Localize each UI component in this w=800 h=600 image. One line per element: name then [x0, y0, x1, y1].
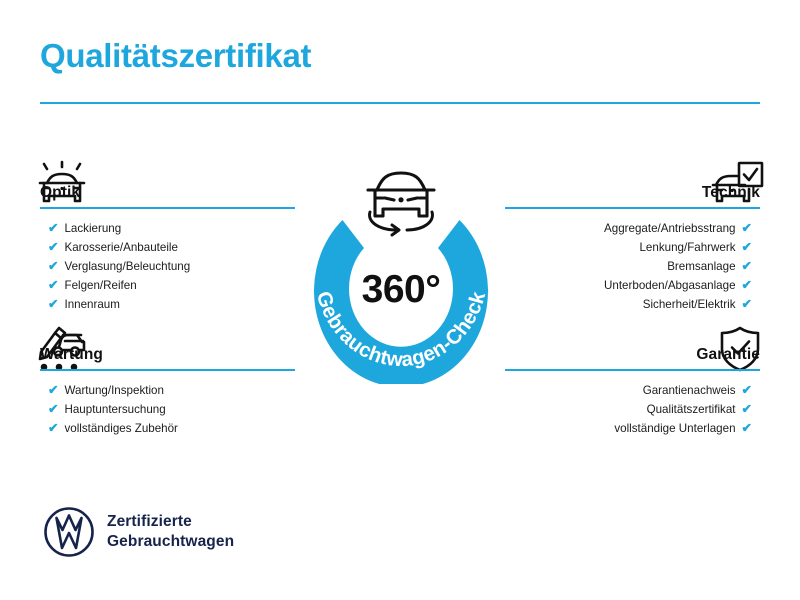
check-icon: ✔ [742, 241, 752, 254]
section-list-optik: ✔Lackierung ✔Karosserie/Anbauteile ✔Verg… [40, 209, 295, 314]
list-item: ✔Karosserie/Anbauteile [40, 238, 295, 257]
list-item: Aggregate/Antriebsstrang✔ [505, 219, 760, 238]
check-icon: ✔ [48, 384, 58, 397]
list-item: ✔Lackierung [40, 219, 295, 238]
car-rotate-360-icon [368, 173, 434, 235]
list-item-label: Verglasung/Beleuchtung [64, 257, 190, 276]
list-item-label: Qualitätszertifikat [647, 400, 736, 419]
list-item: ✔Wartung/Inspektion [40, 381, 295, 400]
list-item-label: vollständiges Zubehör [64, 419, 177, 438]
check-icon: ✔ [48, 279, 58, 292]
section-optik: Optik ✔Lackierung ✔Karosserie/Anbauteile… [40, 160, 295, 314]
check-icon: ✔ [48, 298, 58, 311]
list-item: vollständige Unterlagen✔ [505, 419, 760, 438]
check-icon: ✔ [742, 403, 752, 416]
section-title-optik: Optik [40, 185, 80, 203]
list-item: ✔Felgen/Reifen [40, 276, 295, 295]
list-item-label: Wartung/Inspektion [64, 381, 163, 400]
brand-line-2: Gebrauchtwagen [107, 532, 234, 552]
check-icon: ✔ [48, 260, 58, 273]
list-item-label: Karosserie/Anbauteile [64, 238, 177, 257]
check-icon: ✔ [742, 298, 752, 311]
list-item-label: Garantienachweis [643, 381, 736, 400]
check-icon: ✔ [742, 384, 752, 397]
brand-text: Zertifizierte Gebrauchtwagen [107, 512, 234, 552]
section-technik: Technik Aggregate/Antriebsstrang✔ Lenkun… [505, 160, 760, 314]
list-item-label: Hauptuntersuchung [64, 400, 165, 419]
list-item: ✔Hauptuntersuchung [40, 400, 295, 419]
list-item-label: Lackierung [64, 219, 121, 238]
list-item-label: Aggregate/Antriebsstrang [604, 219, 735, 238]
section-garantie: Garantie Garantienachweis✔ Qualitätszert… [505, 322, 760, 438]
list-item: ✔Verglasung/Beleuchtung [40, 257, 295, 276]
list-item: Qualitätszertifikat✔ [505, 400, 760, 419]
badge-value: 360° [288, 270, 514, 309]
list-item: Unterboden/Abgasanlage✔ [505, 276, 760, 295]
check-icon: ✔ [48, 222, 58, 235]
check-icon: ✔ [48, 422, 58, 435]
list-item: ✔Innenraum [40, 295, 295, 314]
qualitaetszertifikat-page: Qualitätszertifikat Optik ✔Lackierung ✔K… [0, 0, 800, 600]
list-item: Lenkung/Fahrwerk✔ [505, 238, 760, 257]
list-item-label: Sicherheit/Elektrik [643, 295, 736, 314]
section-list-garantie: Garantienachweis✔ Qualitätszertifikat✔ v… [505, 371, 760, 438]
list-item-label: Bremsanlage [667, 257, 735, 276]
section-title-technik: Technik [702, 185, 760, 203]
list-item-label: Innenraum [64, 295, 119, 314]
check-icon: ✔ [742, 422, 752, 435]
title-divider [40, 102, 760, 104]
list-item-label: Unterboden/Abgasanlage [604, 276, 736, 295]
brand-lockup: Zertifizierte Gebrauchtwagen [42, 505, 234, 559]
list-item: Bremsanlage✔ [505, 257, 760, 276]
list-item: Sicherheit/Elektrik✔ [505, 295, 760, 314]
check-icon: ✔ [48, 241, 58, 254]
section-title-wartung: Wartung [40, 347, 103, 365]
list-item-label: vollständige Unterlagen [614, 419, 735, 438]
list-item-label: Felgen/Reifen [64, 276, 136, 295]
brand-line-1: Zertifizierte [107, 512, 234, 532]
list-item-label: Lenkung/Fahrwerk [639, 238, 735, 257]
check-icon: ✔ [742, 222, 752, 235]
page-title: Qualitätszertifikat [40, 38, 311, 74]
check-icon: ✔ [742, 279, 752, 292]
volkswagen-logo [42, 505, 96, 559]
check-icon: ✔ [742, 260, 752, 273]
section-list-wartung: ✔Wartung/Inspektion ✔Hauptuntersuchung ✔… [40, 371, 295, 438]
section-list-technik: Aggregate/Antriebsstrang✔ Lenkung/Fahrwe… [505, 209, 760, 314]
section-title-garantie: Garantie [696, 347, 760, 365]
list-item: Garantienachweis✔ [505, 381, 760, 400]
section-wartung: Wartung ✔Wartung/Inspektion ✔Hauptunters… [40, 322, 295, 438]
check-icon: ✔ [48, 403, 58, 416]
list-item: ✔vollständiges Zubehör [40, 419, 295, 438]
360-check-badge: Gebrauchtwagen-Check 360° [288, 152, 514, 384]
